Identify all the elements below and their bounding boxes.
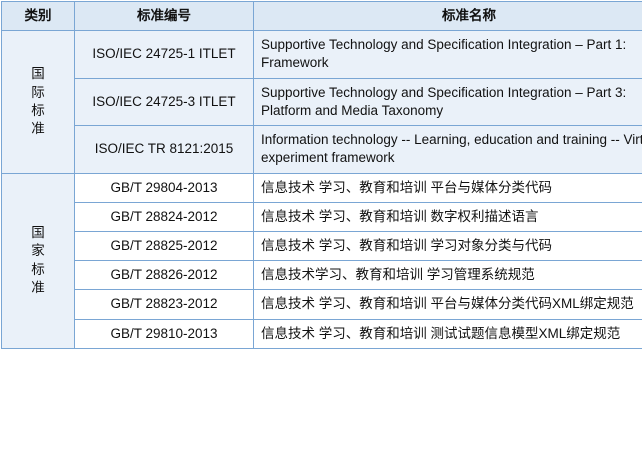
code-cell: ISO/IEC 24725-1 ITLET — [75, 31, 254, 78]
category-cell-international: 国际标准 — [2, 31, 75, 173]
name-cell: 信息技术 学习、教育和培训 平台与媒体分类代码 — [254, 173, 642, 202]
table-row: GB/T 28823-2012 信息技术 学习、教育和培训 平台与媒体分类代码X… — [2, 290, 642, 319]
table-row: ISO/IEC 24725-3 ITLET Supportive Technol… — [2, 78, 642, 125]
table-row: 国际标准 ISO/IEC 24725-1 ITLET Supportive Te… — [2, 31, 642, 78]
table-row: GB/T 28826-2012 信息技术学习、教育和培训 学习管理系统规范 — [2, 261, 642, 290]
name-cell: Information technology -- Learning, educ… — [254, 126, 642, 173]
table-row: 国家标准 GB/T 29804-2013 信息技术 学习、教育和培训 平台与媒体… — [2, 173, 642, 202]
table-header: 类别 标准编号 标准名称 — [2, 2, 642, 31]
code-cell: GB/T 29804-2013 — [75, 173, 254, 202]
code-cell: GB/T 28825-2012 — [75, 231, 254, 260]
header-code: 标准编号 — [75, 2, 254, 31]
name-cell: Supportive Technology and Specification … — [254, 78, 642, 125]
table-row: GB/T 28825-2012 信息技术 学习、教育和培训 学习对象分类与代码 — [2, 231, 642, 260]
code-cell: GB/T 28824-2012 — [75, 202, 254, 231]
category-label: 国际标准 — [31, 65, 45, 138]
category-cell-national: 国家标准 — [2, 173, 75, 348]
header-row: 类别 标准编号 标准名称 — [2, 2, 642, 31]
name-cell: 信息技术 学习、教育和培训 学习对象分类与代码 — [254, 231, 642, 260]
name-cell: 信息技术 学习、教育和培训 数字权利描述语言 — [254, 202, 642, 231]
category-label: 国家标准 — [31, 224, 45, 297]
code-cell: GB/T 29810-2013 — [75, 319, 254, 348]
table-row: GB/T 29810-2013 信息技术 学习、教育和培训 测试试题信息模型XM… — [2, 319, 642, 348]
name-cell: 信息技术 学习、教育和培训 平台与媒体分类代码XML绑定规范 — [254, 290, 642, 319]
header-name: 标准名称 — [254, 2, 642, 31]
name-cell: 信息技术学习、教育和培训 学习管理系统规范 — [254, 261, 642, 290]
table-row: GB/T 28824-2012 信息技术 学习、教育和培训 数字权利描述语言 — [2, 202, 642, 231]
code-cell: GB/T 28823-2012 — [75, 290, 254, 319]
table-body: 国际标准 ISO/IEC 24725-1 ITLET Supportive Te… — [2, 31, 642, 349]
code-cell: ISO/IEC 24725-3 ITLET — [75, 78, 254, 125]
standards-table-container: 类别 标准编号 标准名称 国际标准 ISO/IEC 24725-1 ITLET … — [0, 1, 642, 450]
code-cell: ISO/IEC TR 8121:2015 — [75, 126, 254, 173]
table-row: ISO/IEC TR 8121:2015 Information technol… — [2, 126, 642, 173]
name-cell: Supportive Technology and Specification … — [254, 31, 642, 78]
code-cell: GB/T 28826-2012 — [75, 261, 254, 290]
header-category: 类别 — [2, 2, 75, 31]
name-cell: 信息技术 学习、教育和培训 测试试题信息模型XML绑定规范 — [254, 319, 642, 348]
standards-table: 类别 标准编号 标准名称 国际标准 ISO/IEC 24725-1 ITLET … — [1, 1, 642, 349]
